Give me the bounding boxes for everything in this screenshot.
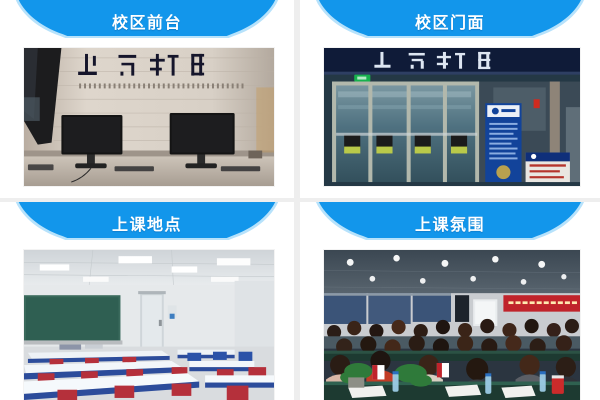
banner-label: 校区门面 xyxy=(300,0,600,42)
banner-label: 上课氛围 xyxy=(300,202,600,244)
photo-campus-reception[interactable] xyxy=(24,48,274,186)
card-banner: 校区门面 xyxy=(300,0,600,42)
photo-campus-storefront[interactable] xyxy=(324,48,580,186)
photo-frame xyxy=(324,48,580,186)
gallery-cell-classroom-location: 上课地点 xyxy=(0,202,297,400)
banner-label: 上课地点 xyxy=(0,202,294,244)
gallery-cell-campus-storefront: 校区门面 xyxy=(297,0,600,202)
photo-frame xyxy=(24,48,274,186)
photo-card[interactable]: 上课氛围 xyxy=(300,202,600,400)
photo-classroom-location[interactable] xyxy=(24,250,274,400)
card-banner: 上课氛围 xyxy=(300,202,600,244)
photo-card[interactable]: 上课地点 xyxy=(0,202,294,400)
photo-card[interactable]: 校区门面 xyxy=(300,0,600,198)
card-banner: 上课地点 xyxy=(0,202,294,244)
photo-card[interactable]: 校区前台 xyxy=(0,0,294,198)
banner-label: 校区前台 xyxy=(0,0,294,42)
gallery-cell-class-atmosphere: 上课氛围 xyxy=(297,202,600,400)
gallery-grid: 校区前台 xyxy=(0,0,600,400)
gallery-cell-campus-reception: 校区前台 xyxy=(0,0,297,202)
photo-frame xyxy=(24,250,274,400)
photo-class-atmosphere[interactable] xyxy=(324,250,580,400)
photo-frame xyxy=(324,250,580,400)
card-banner: 校区前台 xyxy=(0,0,294,42)
